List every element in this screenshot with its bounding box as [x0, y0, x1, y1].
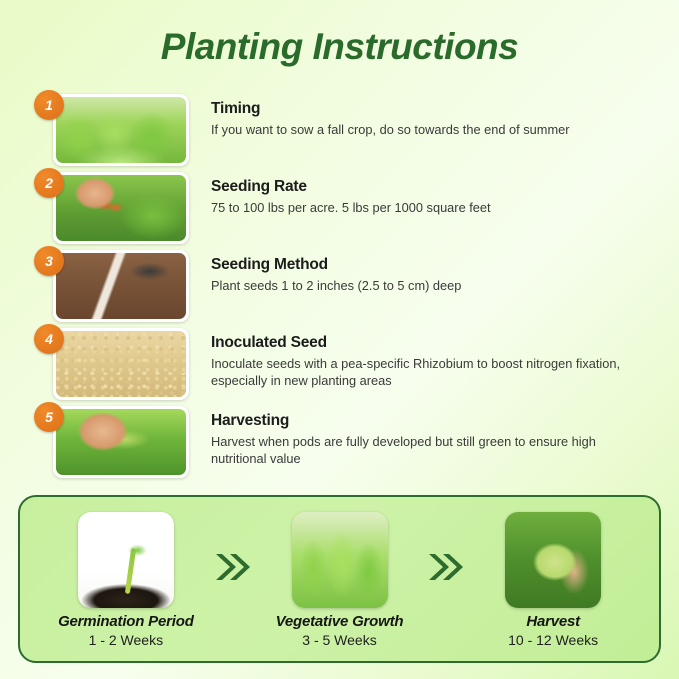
- step-title: Seeding Method: [211, 256, 621, 274]
- timeline-stage: Germination Period 1 - 2 Weeks: [42, 512, 210, 648]
- rake-on-soil-photo: [56, 253, 186, 319]
- double-chevron-right-icon: [423, 550, 469, 584]
- stage-name: Vegetative Growth: [256, 613, 424, 630]
- step-number-badge: 1: [34, 90, 64, 120]
- timeline-stage: Harvest 10 - 12 Weeks: [469, 512, 637, 648]
- page-title: Planting Instructions: [0, 0, 679, 67]
- step-description: Inoculate seeds with a pea-specific Rhiz…: [211, 355, 621, 389]
- step-title: Inoculated Seed: [211, 334, 621, 352]
- step-thumbnail: [53, 94, 189, 166]
- timeline-stage: Vegetative Growth 3 - 5 Weeks: [256, 512, 424, 648]
- stage-duration: 10 - 12 Weeks: [469, 632, 637, 648]
- double-chevron-right-icon: [210, 550, 256, 584]
- step-number-badge: 5: [34, 402, 64, 432]
- step-thumbnail: [53, 328, 189, 400]
- step-description: Harvest when pods are fully developed bu…: [211, 433, 621, 467]
- hand-holding-pea-pods-photo: [505, 512, 601, 608]
- step-description: 75 to 100 lbs per acre. 5 lbs per 1000 s…: [211, 199, 621, 216]
- stage-name: Harvest: [469, 613, 637, 630]
- infographic-page: Planting Instructions 1 Timing If you wa…: [0, 0, 679, 679]
- step-thumbnail: [53, 250, 189, 322]
- pea-seeds-photo: [56, 331, 186, 397]
- seed-sprout-photo: [78, 512, 174, 608]
- stage-duration: 3 - 5 Weeks: [256, 632, 424, 648]
- step-description: Plant seeds 1 to 2 inches (2.5 to 5 cm) …: [211, 277, 621, 294]
- harvesting-pods-photo: [56, 409, 186, 475]
- pea-field-photo: [56, 97, 186, 163]
- step-number-badge: 4: [34, 324, 64, 354]
- step-number-badge: 2: [34, 168, 64, 198]
- step-text-block: Inoculated Seed Inoculate seeds with a p…: [211, 334, 621, 389]
- step-title: Harvesting: [211, 412, 621, 430]
- growth-timeline-panel: Germination Period 1 - 2 Weeks Vegetativ…: [18, 495, 661, 663]
- step-item: 1 Timing If you want to sow a fall crop,…: [0, 94, 679, 171]
- step-item: 3 Seeding Method Plant seeds 1 to 2 inch…: [0, 250, 679, 327]
- step-text-block: Seeding Rate 75 to 100 lbs per acre. 5 l…: [211, 178, 621, 216]
- step-text-block: Seeding Method Plant seeds 1 to 2 inches…: [211, 256, 621, 294]
- step-thumbnail: [53, 172, 189, 244]
- step-item: 5 Harvesting Harvest when pods are fully…: [0, 406, 679, 483]
- step-number-badge: 3: [34, 246, 64, 276]
- step-item: 2 Seeding Rate 75 to 100 lbs per acre. 5…: [0, 172, 679, 249]
- timeline-stages: Germination Period 1 - 2 Weeks Vegetativ…: [20, 497, 659, 661]
- step-title: Seeding Rate: [211, 178, 621, 196]
- stage-duration: 1 - 2 Weeks: [42, 632, 210, 648]
- step-title: Timing: [211, 100, 621, 118]
- step-thumbnail: [53, 406, 189, 478]
- young-pea-plants-photo: [292, 512, 388, 608]
- stage-name: Germination Period: [42, 613, 210, 630]
- step-description: If you want to sow a fall crop, do so to…: [211, 121, 621, 138]
- hand-sowing-seeds-photo: [56, 175, 186, 241]
- steps-list: 1 Timing If you want to sow a fall crop,…: [0, 94, 679, 484]
- step-text-block: Harvesting Harvest when pods are fully d…: [211, 412, 621, 467]
- step-text-block: Timing If you want to sow a fall crop, d…: [211, 100, 621, 138]
- step-item: 4 Inoculated Seed Inoculate seeds with a…: [0, 328, 679, 405]
